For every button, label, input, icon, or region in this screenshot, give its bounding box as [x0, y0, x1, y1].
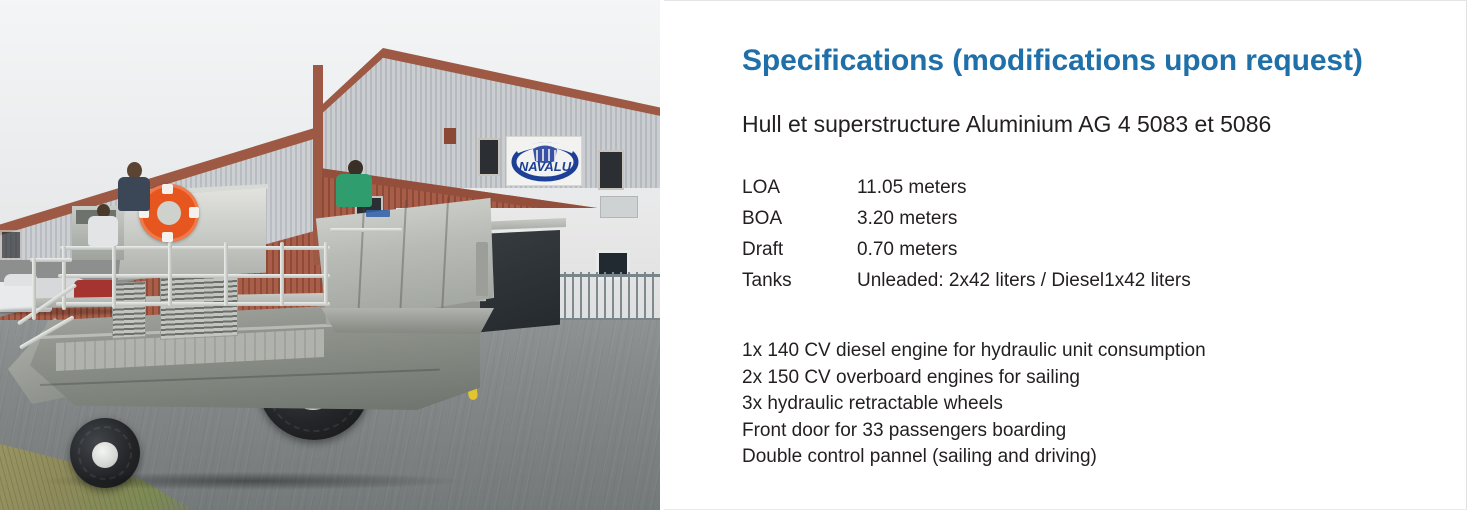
spec-label: Tanks [742, 270, 857, 301]
photo-scene: NAVALU [0, 0, 660, 510]
railing-post-2 [112, 244, 116, 308]
table-row: Tanks Unleaded: 2x42 liters / Diesel1x42… [742, 270, 1191, 301]
spec-label: Draft [742, 239, 857, 270]
spec-value: 3.20 meters [857, 208, 1191, 239]
hull-material-line: Hull et superstructure Aluminium AG 4 50… [742, 111, 1271, 138]
life-ring-band-top [162, 184, 173, 194]
railing-bow-post [32, 258, 36, 320]
table-row: LOA 11.05 meters [742, 177, 1191, 208]
wall-vent [444, 128, 456, 144]
list-item: 2x 150 CV overboard engines for sailing [742, 365, 1206, 392]
table-row: Draft 0.70 meters [742, 239, 1191, 270]
ramp-hinge [476, 242, 488, 296]
list-item: 3x hydraulic retractable wheels [742, 391, 1206, 418]
engine-louvre-left [112, 281, 146, 339]
features-list: 1x 140 CV diesel engine for hydraulic un… [742, 338, 1206, 471]
crew-torso [336, 174, 372, 207]
railing-top-main [60, 246, 330, 250]
amphibious-vessel [0, 150, 560, 480]
railing-post-6 [324, 242, 328, 304]
list-item: Double control pannel (sailing and drivi… [742, 444, 1206, 471]
railing-post-1 [62, 246, 66, 310]
spec-value: 0.70 meters [857, 239, 1191, 270]
warehouse-window-3 [598, 150, 624, 190]
vessel-photo: NAVALU [0, 0, 660, 510]
list-item: Front door for 33 passengers boarding [742, 418, 1206, 445]
spec-value: 11.05 meters [857, 177, 1191, 208]
railing-post-3 [168, 242, 172, 306]
crew-torso [88, 216, 118, 246]
life-ring-band-bottom [162, 232, 173, 242]
railing-post-4 [224, 242, 228, 306]
table-row: BOA 3.20 meters [742, 208, 1191, 239]
list-item: 1x 140 CV diesel engine for hydraulic un… [742, 338, 1206, 365]
railing-bow-top [30, 258, 72, 262]
specifications-table: LOA 11.05 meters BOA 3.20 meters Draft 0… [742, 177, 1191, 301]
specifications-panel: Specifications (modifications upon reque… [664, 0, 1467, 510]
crew-torso [118, 177, 150, 211]
spec-value: Unleaded: 2x42 liters / Diesel1x42 liter… [857, 270, 1191, 301]
ramp-lower-edge [318, 308, 494, 334]
spec-label: BOA [742, 208, 857, 239]
life-ring-band-right [189, 207, 199, 218]
railing-mid-main [58, 274, 330, 278]
front-wheel-hub [92, 442, 118, 468]
railing-rear-top [330, 228, 402, 232]
railing-post-5 [280, 242, 284, 306]
railing-low-main [56, 302, 330, 306]
spec-label: LOA [742, 177, 857, 208]
ramp-maker-plate [366, 210, 390, 217]
page-title: Specifications (modifications upon reque… [742, 44, 1363, 78]
vessel-ground-shadow [40, 472, 460, 490]
spec-sheet-page: NAVALU [0, 0, 1467, 510]
air-conditioning-unit [600, 196, 638, 218]
